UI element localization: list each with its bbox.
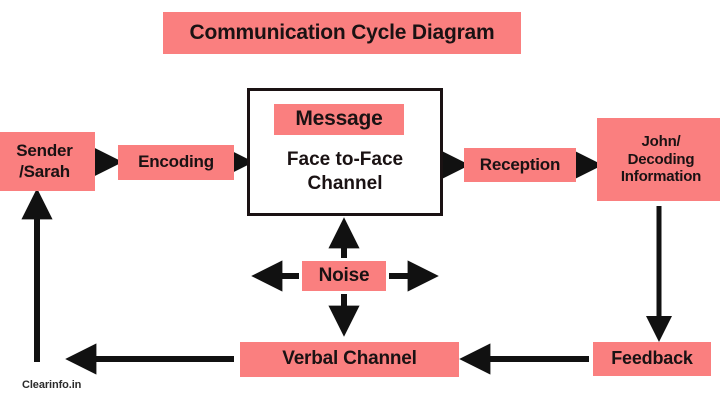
node-feedback: Feedback — [593, 342, 711, 376]
node-channel-line2: Channel — [252, 172, 438, 196]
node-noise: Noise — [302, 261, 386, 291]
node-reception-label: Reception — [480, 155, 560, 175]
node-reception: Reception — [464, 148, 576, 182]
node-sender: Sender /Sarah — [0, 132, 95, 191]
diagram-title: Communication Cycle Diagram — [163, 12, 521, 54]
node-verbal-channel-label: Verbal Channel — [282, 348, 416, 370]
node-decoding-line3: Information — [621, 168, 701, 186]
watermark: Clearinfo.in — [22, 379, 81, 391]
node-feedback-label: Feedback — [611, 348, 692, 369]
node-message-label: Message — [295, 107, 382, 132]
node-noise-label: Noise — [319, 265, 370, 287]
node-encoding: Encoding — [118, 145, 234, 180]
node-channel-line1: Face to-Face — [252, 148, 438, 172]
diagram-title-text: Communication Cycle Diagram — [189, 21, 494, 46]
node-decoding-line1: John/ — [642, 133, 681, 151]
node-decoding: John/ Decoding Information — [597, 118, 720, 201]
node-verbal-channel: Verbal Channel — [240, 342, 459, 377]
communication-cycle-diagram: Communication Cycle Diagram Sender /Sara… — [0, 0, 720, 404]
node-sender-line1: Sender — [16, 141, 72, 161]
node-encoding-label: Encoding — [138, 152, 214, 172]
node-message: Message — [274, 104, 404, 135]
node-decoding-line2: Decoding — [628, 151, 695, 169]
node-channel: Face to-Face Channel — [252, 148, 438, 197]
node-sender-line2: /Sarah — [19, 162, 70, 182]
